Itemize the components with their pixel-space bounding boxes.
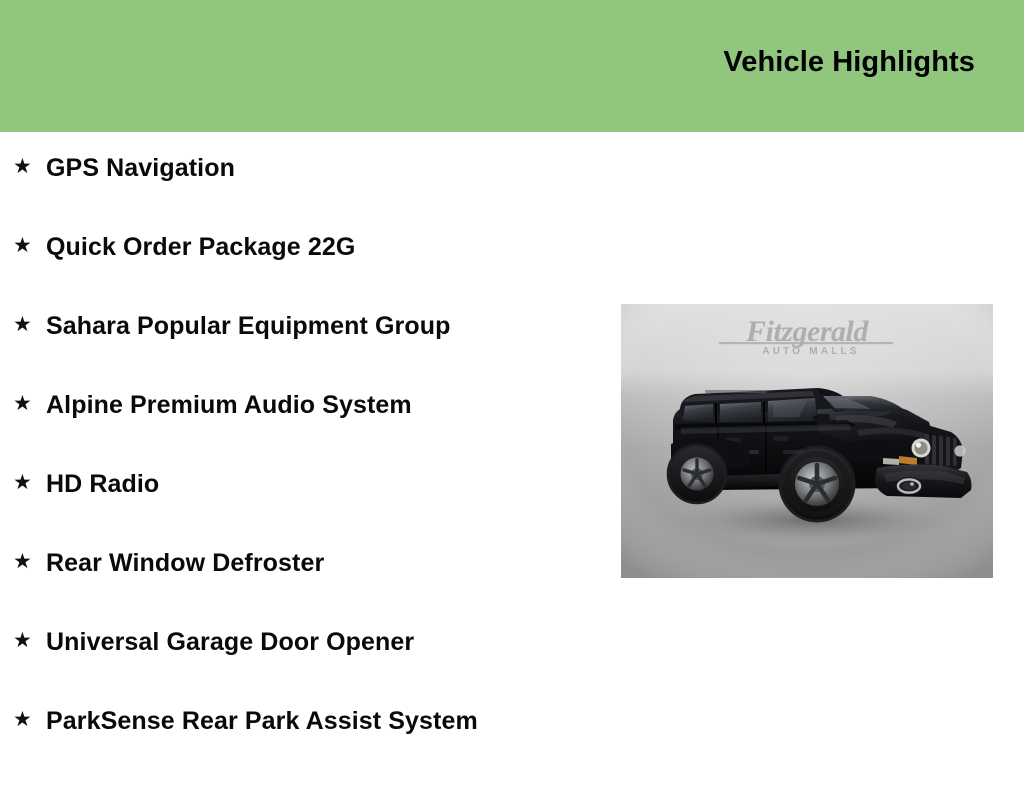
list-item: ★ HD Radio	[0, 472, 612, 551]
page-title: Vehicle Highlights	[723, 48, 975, 77]
star-icon: ★	[13, 314, 46, 335]
watermark-secondary-text: AUTO MALLS	[762, 346, 859, 357]
list-item: ★ ParkSense Rear Park Assist System	[0, 709, 612, 788]
list-item: ★ GPS Navigation	[0, 132, 612, 235]
star-icon: ★	[13, 393, 46, 414]
vehicle-highlights-list: ★ GPS Navigation ★ Quick Order Package 2…	[0, 132, 612, 788]
star-icon: ★	[13, 472, 46, 493]
highlight-label: Rear Window Defroster	[46, 551, 612, 576]
list-item: ★ Rear Window Defroster	[0, 551, 612, 630]
star-icon: ★	[13, 630, 46, 651]
highlight-label: Sahara Popular Equipment Group	[46, 314, 612, 339]
header-band: Vehicle Highlights	[0, 0, 1024, 132]
list-item: ★ Alpine Premium Audio System	[0, 393, 612, 472]
highlight-label: HD Radio	[46, 472, 612, 497]
star-icon: ★	[13, 156, 46, 177]
list-item: ★ Universal Garage Door Opener	[0, 630, 612, 709]
star-icon: ★	[13, 551, 46, 572]
highlight-label: Universal Garage Door Opener	[46, 630, 612, 655]
highlight-label: GPS Navigation	[46, 156, 612, 181]
rear-wheel	[668, 445, 726, 503]
front-wheel	[780, 447, 854, 521]
star-icon: ★	[13, 235, 46, 256]
highlight-label: ParkSense Rear Park Assist System	[46, 709, 612, 734]
vehicle-photo-image: Fitzgerald AUTO MALLS	[621, 304, 993, 578]
star-icon: ★	[13, 709, 46, 730]
list-item: ★ Quick Order Package 22G	[0, 235, 612, 314]
list-item: ★ Sahara Popular Equipment Group	[0, 314, 612, 393]
highlight-label: Quick Order Package 22G	[46, 235, 612, 260]
vehicle-photo: Fitzgerald AUTO MALLS	[621, 304, 993, 578]
highlight-label: Alpine Premium Audio System	[46, 393, 612, 418]
